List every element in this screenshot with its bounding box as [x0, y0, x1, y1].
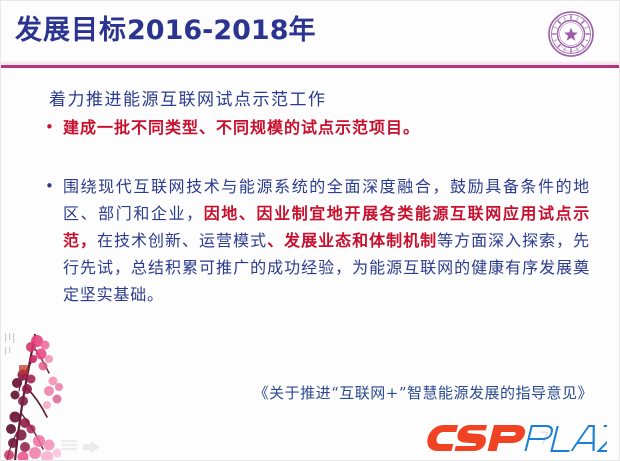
university-seal-icon — [547, 10, 595, 58]
slide-canvas: 发展目标2016-2018年 — [0, 0, 620, 461]
bullet-text-2: 围绕现代互联网技术与能源系统的全面深度融合，鼓励具备条件的地区、部门和企业，因地… — [63, 173, 590, 308]
bullet-item-1: • 建成一批不同类型、不同规模的试点示范项目。 — [45, 115, 585, 140]
section-headline: 着力推进能源互联网试点示范工作 — [49, 85, 327, 110]
bullet-marker-icon: • — [45, 115, 63, 140]
faint-ui-glyphs — [61, 438, 131, 456]
source-citation: 《关于推进“互联网+”智慧能源发展的指导意见》 — [1, 382, 593, 403]
page-title-cn: 发展目标 — [15, 15, 127, 46]
slide-header: 发展目标2016-2018年 — [1, 1, 620, 67]
cspplaza-watermark-logo — [425, 421, 607, 455]
bullet-item-2: • 围绕现代互联网技术与能源系统的全面深度融合，鼓励具备条件的地区、部门和企业，… — [45, 173, 590, 308]
bullet-segment: 在技术创新、运营模式 — [97, 231, 267, 250]
lines-icon — [61, 440, 77, 453]
bullet-text-1: 建成一批不同类型、不同规模的试点示范项目。 — [63, 115, 585, 140]
arrow-right-icon — [91, 441, 100, 453]
bullet-marker-icon: • — [45, 173, 63, 200]
header-divider — [1, 65, 620, 68]
bullet-segment: 、发展业态和体制机制 — [267, 231, 437, 250]
page-title-years: 2016-2018年 — [127, 15, 316, 46]
page-title: 发展目标2016-2018年 — [15, 17, 316, 44]
